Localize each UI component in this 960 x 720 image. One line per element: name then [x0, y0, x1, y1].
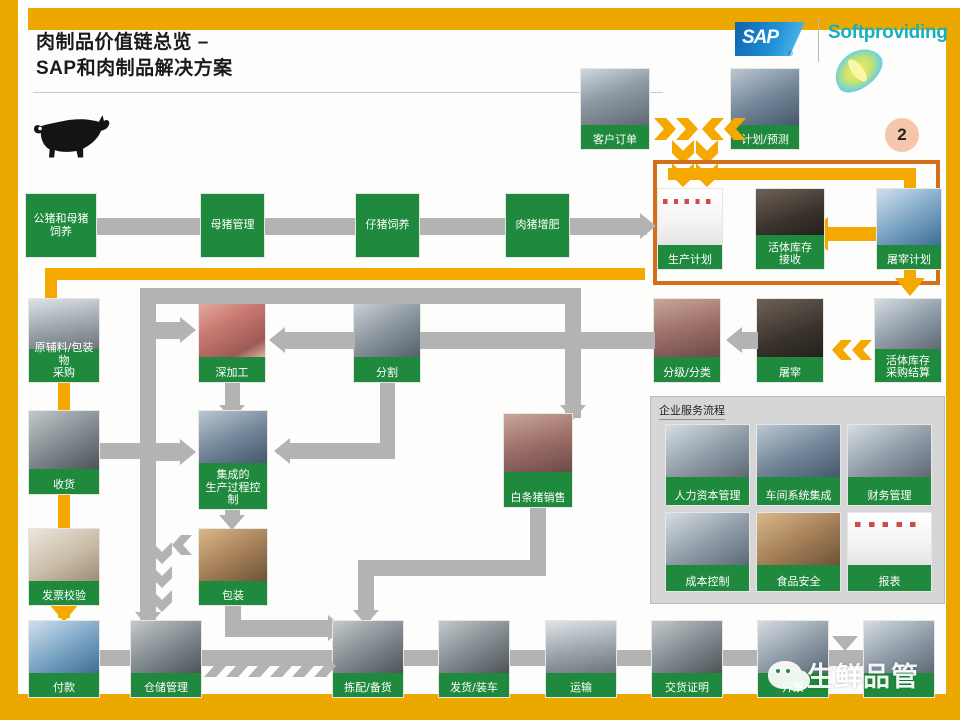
- node-carcass-sales[interactable]: 白条猪销售: [503, 413, 573, 508]
- node-shopfloor-system-integration[interactable]: 车间系统集成: [756, 424, 841, 506]
- node-financial-management[interactable]: 财务管理: [847, 424, 932, 506]
- node-label: 交货证明: [652, 680, 722, 697]
- node-label: 报表: [848, 574, 931, 591]
- left-bus-arrow-processing: [180, 317, 196, 343]
- frame-bar-top: [28, 8, 960, 30]
- node-live-procurement-settlement[interactable]: 活体库存 采购结算: [874, 298, 942, 383]
- node-label: 成本控制: [666, 574, 749, 591]
- node-photo: [666, 425, 749, 477]
- frame-bar-right: [946, 8, 960, 720]
- node-photo: [29, 621, 99, 673]
- sap-logo: SAP ®: [735, 22, 805, 56]
- node-label: 活体库存 采购结算: [875, 353, 941, 382]
- node-label: 付款: [29, 680, 99, 697]
- node-reports[interactable]: 报表: [847, 512, 932, 592]
- node-photo: [439, 621, 509, 673]
- node-label: 屠宰: [757, 365, 823, 382]
- node-label: 包装: [199, 588, 267, 605]
- node-photo: [756, 189, 824, 235]
- watermark-text: 生鲜品管: [807, 655, 919, 694]
- node-label: 仔猪饲养: [356, 194, 419, 257]
- node-label: 母猪管理: [201, 194, 264, 257]
- node-photo: [546, 621, 616, 673]
- invoicing-down-arrow: [832, 636, 858, 651]
- node-photo: [654, 299, 720, 357]
- supply-orange-horizontal: [45, 268, 645, 280]
- node-raw-packaging-procurement[interactable]: 原辅料/包装物 采购: [28, 298, 100, 383]
- sap-registered-mark: ®: [788, 51, 793, 58]
- wechat-eye-left: [776, 669, 780, 673]
- node-photo: [848, 513, 931, 565]
- node-further-processing[interactable]: 深加工: [198, 298, 266, 383]
- node-photo: [29, 411, 99, 469]
- node-label: 分级/分类: [654, 365, 720, 382]
- node-photo: [354, 299, 420, 357]
- node-photo: [333, 621, 403, 673]
- node-photo: [666, 513, 749, 565]
- node-boar-sow-rearing[interactable]: 公猪和母猪 饲养: [25, 193, 97, 258]
- node-photo: [848, 425, 931, 477]
- node-production-plan[interactable]: 生产计划: [657, 188, 723, 270]
- title-divider: [33, 92, 663, 93]
- node-photo: [875, 299, 941, 349]
- control-to-packaging-arrow: [219, 515, 245, 530]
- cutting-to-processing-arrow: [269, 327, 285, 353]
- node-food-safety[interactable]: 食品安全: [756, 512, 841, 592]
- node-label: 屠宰计划: [877, 252, 941, 269]
- node-piglet-rearing[interactable]: 仔猪饲养: [355, 193, 420, 258]
- node-photo: [131, 621, 201, 673]
- node-label: 白条猪销售: [504, 490, 572, 507]
- planning-orange-exit-arrow: [895, 278, 925, 296]
- breeding-connector-arrow: [640, 213, 656, 239]
- node-fattening[interactable]: 肉猪增肥: [505, 193, 570, 258]
- node-slaughter-plan[interactable]: 屠宰计划: [876, 188, 942, 270]
- node-label: 活体库存 接收: [756, 240, 824, 269]
- wechat-icon: [768, 661, 802, 689]
- node-payment[interactable]: 付款: [28, 620, 100, 698]
- planning-orange-top-line: [668, 168, 916, 180]
- node-label: 财务管理: [848, 488, 931, 505]
- node-cutting[interactable]: 分割: [353, 298, 421, 383]
- left-bus-branch-processing: [156, 322, 180, 339]
- node-label: 车间系统集成: [757, 488, 840, 505]
- node-label: 运输: [546, 680, 616, 697]
- node-invoice-verification[interactable]: 发票校验: [28, 528, 100, 606]
- node-live-inventory-receipt[interactable]: 活体库存 接收: [755, 188, 825, 270]
- frame-bar-left: [0, 0, 18, 720]
- cutting-to-processing-line: [285, 332, 355, 349]
- packaging-to-picking-horiz: [225, 620, 330, 637]
- node-label: 公猪和母猪 饲养: [26, 194, 96, 257]
- node-shipping-loading[interactable]: 发货/装车: [438, 620, 510, 698]
- node-photo: [877, 189, 941, 245]
- left-bus-top: [140, 288, 580, 304]
- softproviding-logo-mark: [832, 52, 884, 88]
- node-photo: [199, 411, 267, 463]
- cutting-to-control-arrow: [274, 438, 290, 464]
- softproviding-logo-text: Softproviding: [828, 22, 948, 44]
- cutting-to-control-line: [290, 443, 395, 459]
- node-label: 原辅料/包装物 采购: [29, 340, 99, 382]
- node-cost-control[interactable]: 成本控制: [665, 512, 750, 592]
- node-label: 人力资本管理: [666, 488, 749, 505]
- node-transport[interactable]: 运输: [545, 620, 617, 698]
- node-photo: [652, 621, 722, 673]
- node-photo: [199, 299, 265, 357]
- node-photo: [731, 69, 799, 125]
- wechat-eye-right: [786, 669, 790, 673]
- node-photo: [504, 414, 572, 472]
- logo-separator: [818, 18, 819, 62]
- node-photo: [757, 513, 840, 565]
- node-photo: [199, 529, 267, 581]
- node-photo: [658, 189, 722, 245]
- node-photo: [29, 529, 99, 581]
- node-integrated-production-control[interactable]: 集成的 生产过程控 制: [198, 410, 268, 510]
- node-label: 深加工: [199, 365, 265, 382]
- node-warehouse-management[interactable]: 仓储管理: [130, 620, 202, 698]
- node-label: 收货: [29, 477, 99, 494]
- node-human-capital-management[interactable]: 人力资本管理: [665, 424, 750, 506]
- node-packaging[interactable]: 包装: [198, 528, 268, 606]
- node-label: 仓储管理: [131, 680, 201, 697]
- slaughter-to-grading-arrow: [726, 327, 742, 353]
- right-bus-vertical: [565, 288, 581, 418]
- sales-to-picking-horiz: [358, 560, 546, 576]
- node-grading-classification[interactable]: 分级/分类: [653, 298, 721, 383]
- step-badge-2: 2: [885, 118, 919, 152]
- grading-to-cutting-line: [420, 332, 655, 349]
- node-photo: [757, 425, 840, 477]
- slide-canvas: 肉制品价值链总览 – SAP和肉制品解决方案 SAP ® Softprovidi…: [0, 0, 960, 720]
- node-goods-receipt[interactable]: 收货: [28, 410, 100, 495]
- node-label: 发货/装车: [439, 680, 509, 697]
- receipt-to-control-line: [100, 443, 180, 459]
- sap-logo-text: SAP: [742, 27, 778, 49]
- node-label: 集成的 生产过程控 制: [199, 467, 267, 509]
- watermark: 生鲜品管: [768, 655, 919, 694]
- pig-silhouette-icon: [30, 104, 120, 162]
- node-sow-management[interactable]: 母猪管理: [200, 193, 265, 258]
- page-title: 肉制品价值链总览 – SAP和肉制品解决方案: [36, 30, 596, 81]
- node-label: 肉猪增肥: [506, 194, 569, 257]
- node-label: 客户订单: [581, 132, 649, 149]
- node-label: 拣配/备货: [333, 680, 403, 697]
- node-slaughter[interactable]: 屠宰: [756, 298, 824, 383]
- node-label: 发票校验: [29, 588, 99, 605]
- node-label: 食品安全: [757, 574, 840, 591]
- enterprise-services-title: 企业服务流程: [659, 402, 725, 420]
- slaughter-to-grading-line: [742, 332, 758, 349]
- node-label: 分割: [354, 365, 420, 382]
- node-photo: [757, 299, 823, 357]
- node-customer-order[interactable]: 客户订单: [580, 68, 650, 150]
- left-bus-arrow-control: [180, 439, 196, 465]
- node-label: 生产计划: [658, 252, 722, 269]
- sales-to-picking-drop: [358, 560, 374, 615]
- node-photo: [581, 69, 649, 125]
- node-proof-of-delivery[interactable]: 交货证明: [651, 620, 723, 698]
- node-picking-staging[interactable]: 拣配/备货: [332, 620, 404, 698]
